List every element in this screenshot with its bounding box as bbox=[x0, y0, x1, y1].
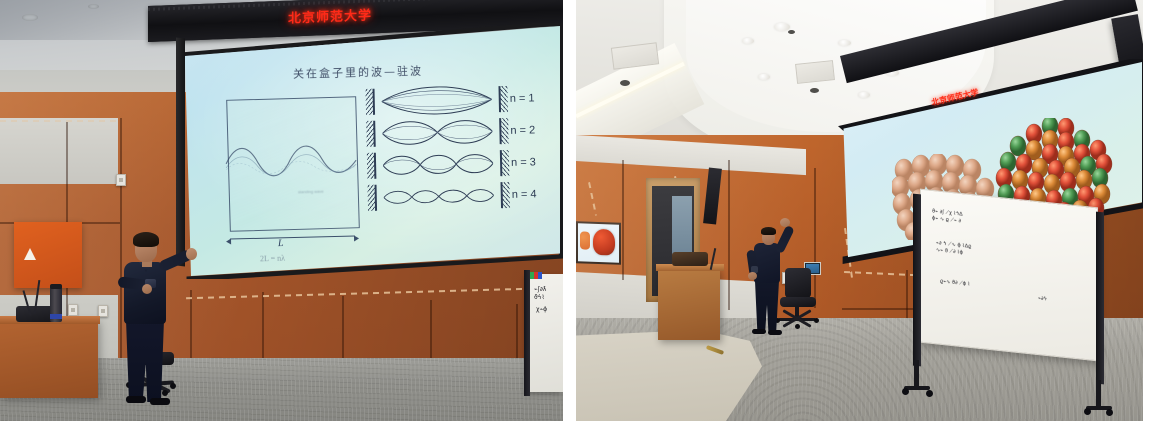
chair-caster bbox=[795, 324, 800, 329]
whiteboard-caster bbox=[1106, 409, 1113, 416]
lecturer-hand bbox=[780, 218, 790, 227]
chair-caster bbox=[170, 383, 176, 389]
wall-support-icon bbox=[373, 121, 383, 147]
photo-right: 北京师范大学 bbox=[576, 0, 1143, 421]
photo-composite: 北京师范大学 关在盒子里的波—驻波 standing wave L 2L = n… bbox=[0, 0, 1152, 436]
lecturer-shoe bbox=[752, 329, 766, 334]
mode-shape-n1 bbox=[381, 85, 492, 115]
chair-caster bbox=[162, 390, 168, 396]
power-outlet bbox=[116, 174, 126, 186]
ceiling-speaker bbox=[810, 88, 819, 93]
ceiling-light bbox=[774, 23, 790, 31]
wall-support-icon bbox=[491, 86, 501, 112]
whiteboard-frame bbox=[524, 270, 530, 396]
chair-back bbox=[785, 268, 811, 298]
monitor-cluster-large bbox=[593, 229, 615, 256]
lecturer-hair bbox=[133, 232, 159, 247]
whiteboard-writing: ⌁ʃ∂ƛϑϟ⌇ bbox=[534, 286, 546, 302]
ceiling-speaker bbox=[788, 30, 795, 34]
lecturer-hair bbox=[761, 227, 776, 235]
panel-seam bbox=[728, 160, 730, 310]
mode-label: n = 2 bbox=[510, 124, 535, 137]
panel-seam bbox=[120, 118, 122, 358]
mobile-whiteboard: ϑ⌁ ∂ʃ ⟋χ ⌇ϟ∆ ϕ⌁ ∿ ϱ ⟋⌁ ∂ ⌁∂ ϟ ⟋∿ ϕ ⌇∆ϱ ∿… bbox=[910, 188, 1110, 398]
dimension-bar bbox=[230, 235, 355, 239]
ceiling-light bbox=[758, 74, 770, 80]
white-wall-left bbox=[0, 118, 118, 184]
mode-shape-n4 bbox=[384, 186, 494, 206]
podium bbox=[658, 268, 720, 340]
wall-support-icon bbox=[375, 185, 385, 211]
mode-label: n = 3 bbox=[511, 156, 536, 169]
office-chair bbox=[776, 268, 818, 330]
whiteboard-writing: ⌁∂ϟ bbox=[1038, 296, 1047, 304]
wave-curve-icon bbox=[223, 134, 360, 182]
photo-left: 北京师范大学 关在盒子里的波—驻波 standing wave L 2L = n… bbox=[0, 0, 563, 421]
standing-wave-modes: n = 1 n = 2 bbox=[372, 82, 545, 236]
dimension-label: L bbox=[278, 238, 284, 249]
side-monitor bbox=[576, 221, 621, 265]
side-monitor-screen bbox=[578, 223, 619, 262]
whiteboard-caster bbox=[926, 390, 933, 397]
projection-screen: 关在盒子里的波—驻波 standing wave L 2L = nλ bbox=[150, 26, 560, 276]
desk-equipment bbox=[672, 252, 708, 266]
mode-row: n = 3 bbox=[374, 146, 545, 182]
ceiling-speaker bbox=[620, 80, 630, 86]
whiteboard-frame bbox=[913, 194, 921, 367]
whiteboard-caster bbox=[902, 388, 909, 395]
lecturer-shoe bbox=[150, 398, 170, 405]
power-outlet bbox=[68, 304, 78, 316]
panel-sign-icon bbox=[24, 248, 36, 260]
lecturer-hand bbox=[748, 272, 757, 280]
wall-support-icon bbox=[492, 118, 502, 144]
wall-support-icon bbox=[373, 89, 383, 115]
mode-label: n = 4 bbox=[512, 188, 537, 201]
marker-icon bbox=[538, 272, 542, 279]
ceiling-light bbox=[742, 38, 754, 44]
air-vent bbox=[795, 60, 835, 84]
mode-row: n = 4 bbox=[374, 178, 545, 214]
monitor-cluster-small bbox=[580, 231, 590, 249]
whiteboard-frame bbox=[1096, 212, 1104, 385]
wall-support-icon bbox=[493, 150, 503, 176]
ceiling-light bbox=[88, 4, 99, 9]
screen-side-edge bbox=[176, 38, 185, 267]
chair-caster bbox=[814, 318, 819, 323]
panel-seam bbox=[622, 160, 624, 280]
lecturer-shoe bbox=[126, 396, 146, 403]
mode-label: n = 1 bbox=[510, 92, 535, 105]
lecturer-shoe bbox=[768, 330, 782, 335]
mode-shape-n2 bbox=[382, 118, 493, 146]
mode-shape-n3 bbox=[383, 151, 493, 177]
ceiling-light bbox=[838, 40, 851, 46]
whiteboard-writing: χ⌁ϕ bbox=[536, 306, 547, 314]
mode-row: n = 1 bbox=[372, 82, 543, 118]
ceiling-light bbox=[22, 14, 38, 21]
panel-highlight bbox=[0, 120, 120, 122]
figure-inline-note: standing wave bbox=[298, 189, 324, 195]
wall-support-icon bbox=[493, 182, 503, 208]
whiteboard: ⌁ʃ∂ƛϑϟ⌇ χ⌁ϕ bbox=[524, 270, 563, 398]
slide-formula: 2L = nλ bbox=[260, 254, 285, 264]
mode-row: n = 2 bbox=[373, 114, 544, 150]
wall-support-icon bbox=[374, 153, 384, 179]
lecturer-hand bbox=[186, 248, 197, 260]
orange-wall-panel bbox=[14, 222, 82, 288]
whiteboard-caster bbox=[1084, 408, 1091, 415]
bottle-cap bbox=[50, 284, 62, 289]
bottle-band bbox=[50, 314, 62, 319]
lecturer-hand bbox=[142, 284, 152, 294]
podium bbox=[0, 320, 98, 398]
